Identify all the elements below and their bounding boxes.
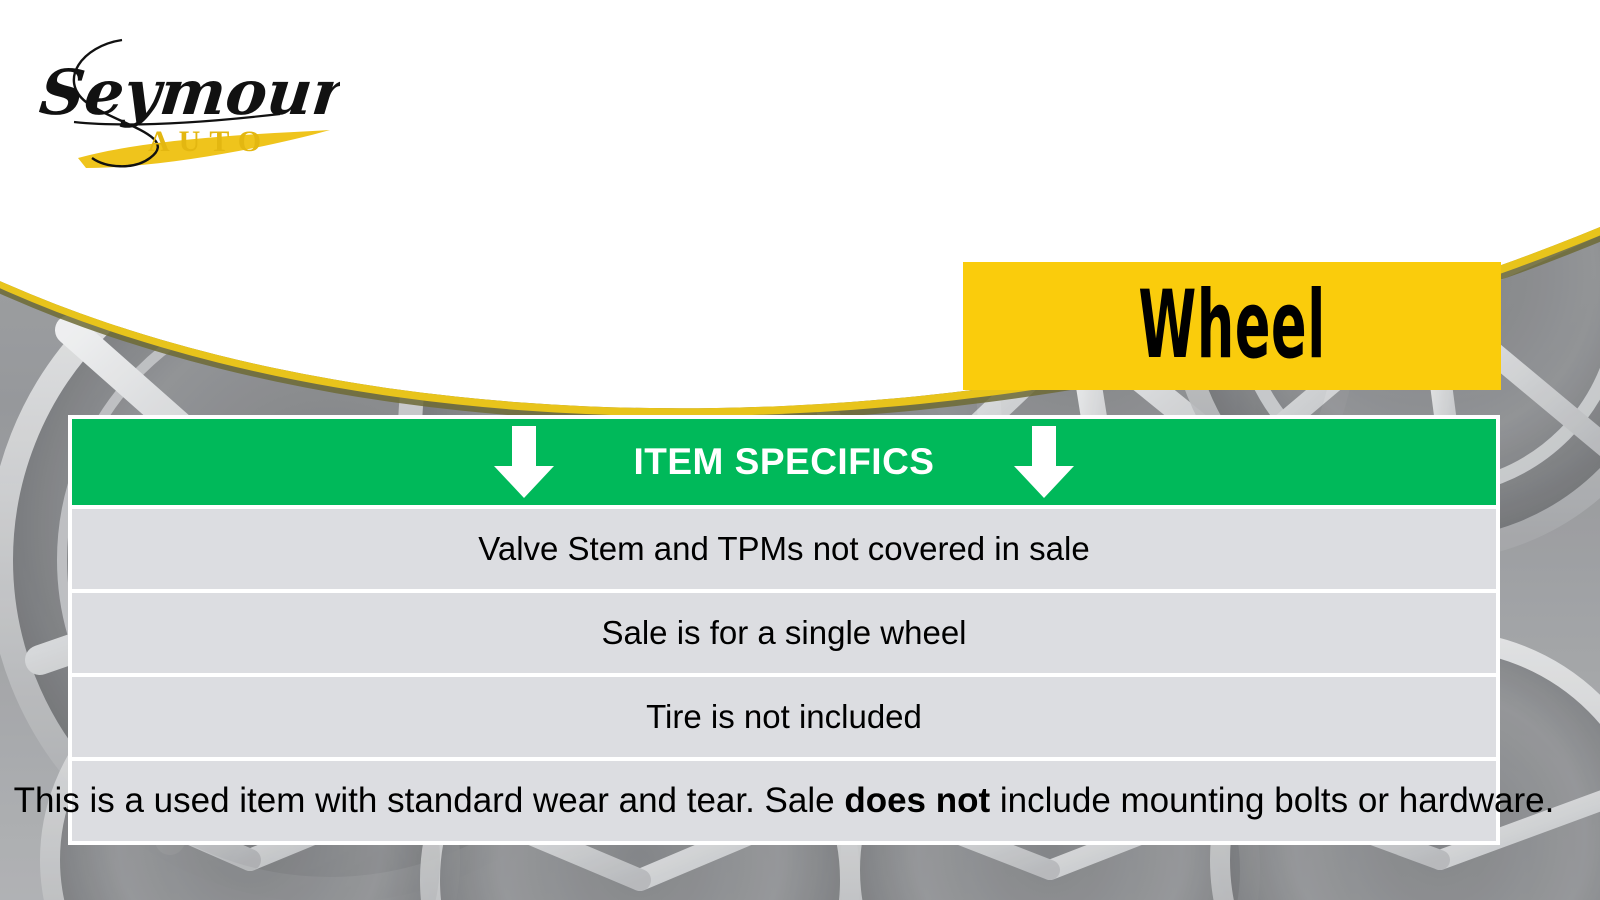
item-specifics-label: ITEM SPECIFICS xyxy=(634,441,935,483)
logo-script-text: Seymour xyxy=(36,56,340,129)
arrow-down-icon xyxy=(1012,426,1076,498)
spec-row: Valve Stem and TPMs not covered in sale xyxy=(72,509,1496,589)
spec-row: Tire is not included xyxy=(72,677,1496,757)
spec-row-text: Tire is not included xyxy=(646,698,922,736)
spec-row-note: This is a used item with standard wear a… xyxy=(72,761,1496,841)
spec-row-text: Valve Stem and TPMs not covered in sale xyxy=(478,530,1089,568)
arrow-down-icon xyxy=(492,426,556,498)
spec-row-text: Sale is for a single wheel xyxy=(601,614,966,652)
item-specifics-table: ITEM SPECIFICS Valve Stem and TPMs not c… xyxy=(68,415,1500,845)
seymour-auto-logo: Seymour AUTO xyxy=(30,18,340,173)
page-title: Wheel xyxy=(1138,279,1325,373)
note-after-bold: include mounting bolts or hardware. xyxy=(990,781,1554,820)
logo-sub-text: AUTO xyxy=(148,125,270,158)
spec-row: Sale is for a single wheel xyxy=(72,593,1496,673)
item-specifics-header: ITEM SPECIFICS xyxy=(72,419,1496,505)
note-before-bold: This is a used item with standard wear a… xyxy=(14,781,845,820)
wheel-title-plate: Wheel xyxy=(963,262,1501,390)
spec-note-text: This is a used item with standard wear a… xyxy=(14,781,1555,821)
slide-canvas: Seymour AUTO Wheel ITEM SPECIFICS xyxy=(0,0,1600,900)
note-bold: does not xyxy=(844,781,990,820)
